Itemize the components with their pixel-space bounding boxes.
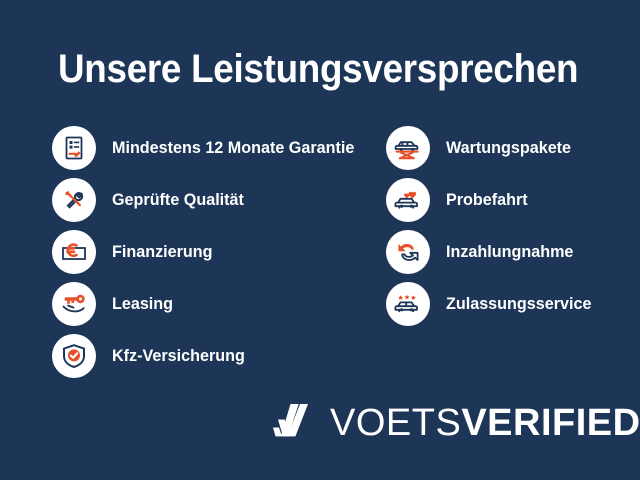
car-heart-icon — [386, 178, 430, 222]
promise-item-inzahlungnahme[interactable]: Inzahlungnahme — [386, 230, 636, 274]
logo-voets-text: VOETS — [330, 402, 461, 444]
voets-verified-logo[interactable]: VOETSVERIFIED — [272, 400, 640, 446]
voets-v-checkmark-icon — [272, 400, 316, 446]
promise-label: Zulassungsservice — [446, 294, 591, 314]
car-on-lift-icon — [386, 126, 430, 170]
promise-label: Leasing — [112, 294, 173, 314]
promise-item-probefahrt[interactable]: Probefahrt — [386, 178, 636, 222]
promise-item-versicherung[interactable]: Kfz-Versicherung — [52, 334, 382, 378]
promise-item-qualitaet[interactable]: Geprüfte Qualität — [52, 178, 382, 222]
logo-wordmark: VOETSVERIFIED — [330, 403, 640, 443]
promise-label: Geprüfte Qualität — [112, 190, 244, 210]
promise-label: Wartungspakete — [446, 138, 571, 158]
promise-label: Kfz-Versicherung — [112, 346, 245, 366]
wrench-screwdriver-icon — [52, 178, 96, 222]
promise-label: Mindestens 12 Monate Garantie — [112, 138, 354, 158]
page-title: Unsere Leistungsversprechen — [58, 46, 578, 92]
promise-item-wartungspakete[interactable]: Wartungspakete — [386, 126, 636, 170]
promise-item-leasing[interactable]: Leasing — [52, 282, 382, 326]
certificate-document-icon — [52, 126, 96, 170]
car-stars-icon — [386, 282, 430, 326]
euro-banknote-icon — [52, 230, 96, 274]
promise-item-zulassungsservice[interactable]: Zulassungsservice — [386, 282, 636, 326]
promise-item-garantie[interactable]: Mindestens 12 Monate Garantie — [52, 126, 382, 170]
logo-verified-text: VERIFIED — [461, 402, 640, 444]
promise-list-left: Mindestens 12 Monate Garantie Geprüfte Q… — [52, 126, 382, 386]
promise-label: Inzahlungnahme — [446, 242, 573, 262]
promise-list-right: Wartungspakete — [386, 126, 636, 334]
promise-item-finanzierung[interactable]: Finanzierung — [52, 230, 382, 274]
promise-label: Finanzierung — [112, 242, 212, 262]
exchange-arrows-icon — [386, 230, 430, 274]
promise-label: Probefahrt — [446, 190, 528, 210]
shield-check-icon — [52, 334, 96, 378]
promise-poster: Unsere Leistungsversprechen Mindestens 1… — [0, 0, 640, 480]
key-in-hand-icon — [52, 282, 96, 326]
